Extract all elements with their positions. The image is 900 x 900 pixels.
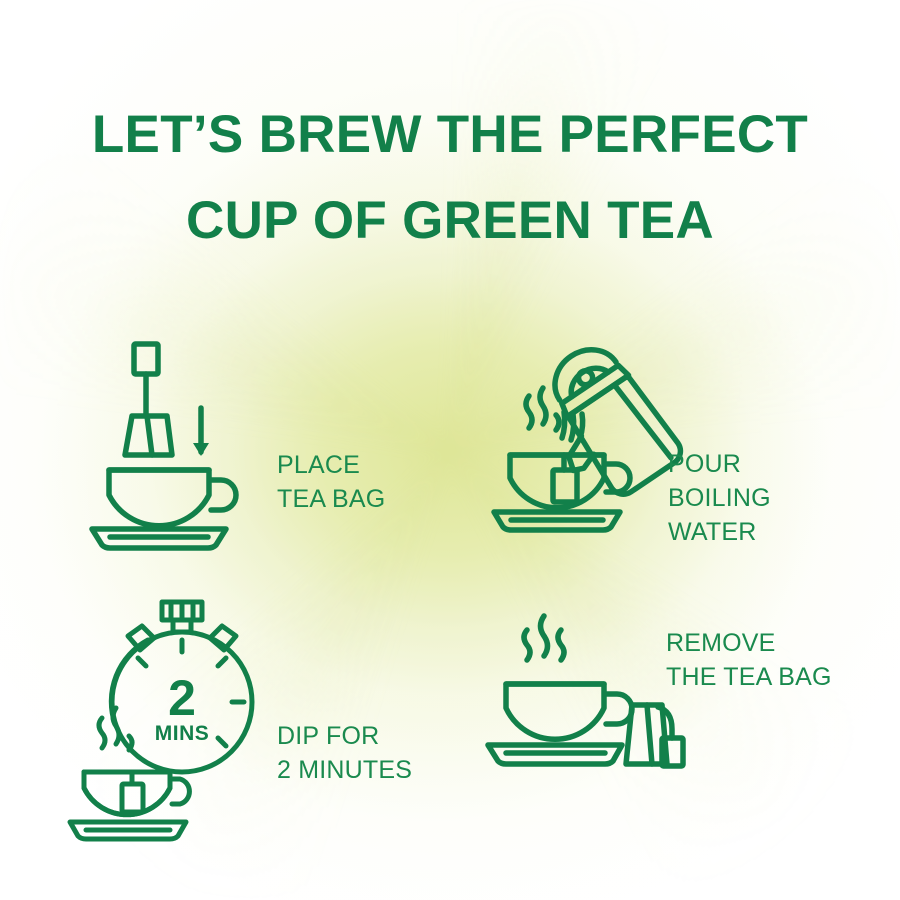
tea-bag-icon (125, 344, 172, 455)
saucer-icon (488, 745, 622, 764)
page-title-line-1: LET’S BREW THE PERFECT (0, 92, 900, 178)
step-4-label-line-2: THE TEA BAG (666, 660, 832, 694)
step-pour-boiling-water-label: POUR BOILING WATER (668, 447, 771, 549)
tea-bag-icon (626, 705, 683, 766)
stopwatch-value: 2 (168, 670, 196, 726)
saucer-icon (494, 512, 620, 530)
page-title: LET’S BREW THE PERFECT CUP OF GREEN TEA (0, 92, 900, 264)
step-4-label-line-1: REMOVE (666, 626, 832, 660)
steam-icon (524, 616, 564, 660)
page-title-line-2: CUP OF GREEN TEA (0, 178, 900, 264)
step-remove-the-tea-bag: REMOVE THE TEA BAG (486, 612, 876, 812)
step-remove-the-tea-bag-label: REMOVE THE TEA BAG (666, 626, 832, 694)
step-1-label-line-2: TEA BAG (277, 482, 385, 516)
step-pour-boiling-water: POUR BOILING WATER (492, 330, 852, 570)
step-dip-for-2-minutes-label: DIP FOR 2 MINUTES (277, 719, 412, 787)
teacup-icon (506, 684, 632, 739)
step-dip-for-2-minutes: 2 MINS (70, 582, 440, 812)
step-place-tea-bag-label: PLACE TEA BAG (277, 448, 385, 516)
saucer-icon (92, 529, 226, 548)
teacup-icon (109, 470, 236, 526)
step-2-label-line-2: BOILING (668, 481, 771, 515)
step-2-label-line-1: POUR (668, 447, 771, 481)
step-dip-for-2-minutes-art: 2 MINS (70, 582, 300, 802)
stopwatch-unit: MINS (155, 722, 210, 745)
step-place-tea-bag-art (90, 330, 270, 550)
step-3-label-line-2: 2 MINUTES (277, 753, 412, 787)
water-stream-icon (562, 412, 583, 440)
teacup-icon (84, 772, 189, 815)
down-arrow-icon (193, 408, 209, 456)
step-1-label-line-1: PLACE (277, 448, 385, 482)
step-3-label-line-1: DIP FOR (277, 719, 412, 753)
tea-brewing-infographic: LET’S BREW THE PERFECT CUP OF GREEN TEA (0, 0, 900, 900)
step-remove-the-tea-bag-art (486, 612, 686, 802)
step-place-tea-bag: PLACE TEA BAG (90, 330, 420, 560)
step-2-label-line-3: WATER (668, 515, 771, 549)
